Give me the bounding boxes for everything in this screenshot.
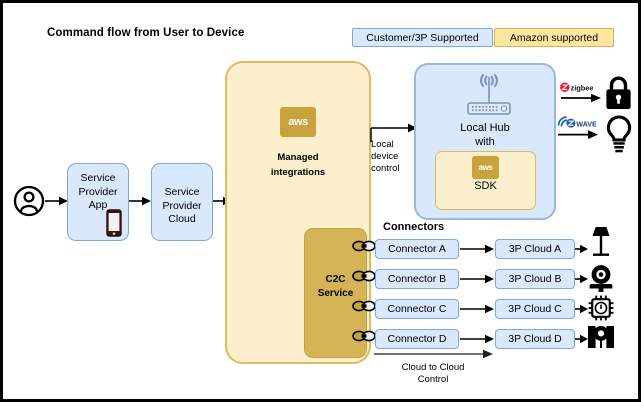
connectors-heading: Connectors (383, 221, 444, 233)
sp-app-label: Service Provider App (68, 172, 128, 213)
arrow-connector-c-to-cloud-c (460, 303, 496, 315)
hub-line1: Local Hub (460, 122, 510, 134)
zwave-protocol-badge: WAVE (556, 116, 602, 140)
third-party-cloud-b-box[interactable]: 3P Cloud B (495, 269, 575, 289)
local-device-control-label: Local device control (371, 139, 407, 175)
sp-app-line3: App (89, 199, 108, 211)
chain-link-icon (352, 269, 376, 283)
third-party-cloud-d-box[interactable]: 3P Cloud D (495, 329, 575, 349)
arrow-app-to-cloud (129, 195, 153, 207)
mobile-phone-icon (106, 209, 122, 237)
third-party-cloud-c-box[interactable]: 3P Cloud C (495, 299, 575, 319)
smart-device-icon (587, 323, 615, 351)
aws-logo-icon: aws (280, 107, 316, 137)
service-provider-cloud-box[interactable]: Service Provider Cloud (151, 163, 213, 241)
page-title: Command flow from User to Device (47, 27, 244, 39)
sp-app-line2: Provider (78, 186, 117, 198)
sp-cloud-line3: Cloud (168, 213, 195, 225)
arrow-connector-d-to-cloud-d (460, 333, 496, 345)
c2cc-line2: Control (418, 374, 449, 385)
ldc-line1: Local (371, 139, 394, 150)
camera-icon (587, 263, 615, 291)
chain-link-icon (352, 239, 376, 253)
service-provider-app-box[interactable]: Service Provider App (67, 163, 129, 241)
c2c-line1: C2C (325, 274, 345, 285)
arrow-connector-a-to-cloud-a (460, 243, 496, 255)
local-hub-label: Local Hub with (414, 121, 556, 149)
zigbee-protocol-badge: zigbee (559, 81, 603, 103)
mi-label-line1: Managed (277, 152, 318, 163)
legend-customer-3p: Customer/3P Supported (352, 28, 493, 47)
connector-d-box[interactable]: Connector D (375, 329, 459, 349)
aws-logo-icon-sdk: aws (472, 156, 499, 179)
sp-cloud-label: Service Provider Cloud (152, 186, 212, 227)
svg-text:WAVE: WAVE (576, 120, 597, 129)
c2c-line2: Service (318, 288, 354, 299)
connector-a-box[interactable]: Connector A (375, 239, 459, 259)
c2cc-line1: Cloud to Cloud (402, 362, 465, 373)
chip-sensor-icon (587, 294, 615, 322)
sp-cloud-line2: Provider (162, 200, 201, 212)
aws-wordmark-sdk: aws (479, 164, 493, 172)
svg-text:zigbee: zigbee (571, 84, 594, 93)
user-icon (13, 185, 45, 217)
diagram-canvas: Command flow from User to Device Custome… (0, 0, 641, 402)
arrow-cloud-to-cloud-control (374, 348, 494, 360)
sdk-label: SDK (435, 180, 536, 192)
sp-cloud-line1: Service (164, 186, 199, 198)
wireless-router-icon (465, 73, 513, 119)
cloud-to-cloud-control-label: Cloud to Cloud Control (373, 362, 493, 386)
ldc-line2: device (371, 151, 398, 162)
sp-app-line1: Service (80, 172, 115, 184)
floor-lamp-icon (587, 225, 615, 253)
arrow-connector-b-to-cloud-b (460, 273, 496, 285)
light-bulb-icon (604, 115, 634, 155)
connector-c-box[interactable]: Connector C (375, 299, 459, 319)
managed-integrations-label: Managed integrations (225, 150, 371, 180)
arrow-user-to-app (45, 195, 69, 207)
chain-link-icon (352, 329, 376, 343)
chain-link-icon (352, 299, 376, 313)
ldc-line3: control (371, 163, 400, 174)
hub-line2: with (475, 136, 495, 148)
aws-wordmark: aws (288, 117, 308, 128)
mi-label-line2: integrations (271, 167, 325, 178)
legend-amazon-supported: Amazon supported (494, 28, 614, 47)
connector-b-box[interactable]: Connector B (375, 269, 459, 289)
door-lock-icon (603, 76, 634, 110)
third-party-cloud-a-box[interactable]: 3P Cloud A (495, 239, 575, 259)
